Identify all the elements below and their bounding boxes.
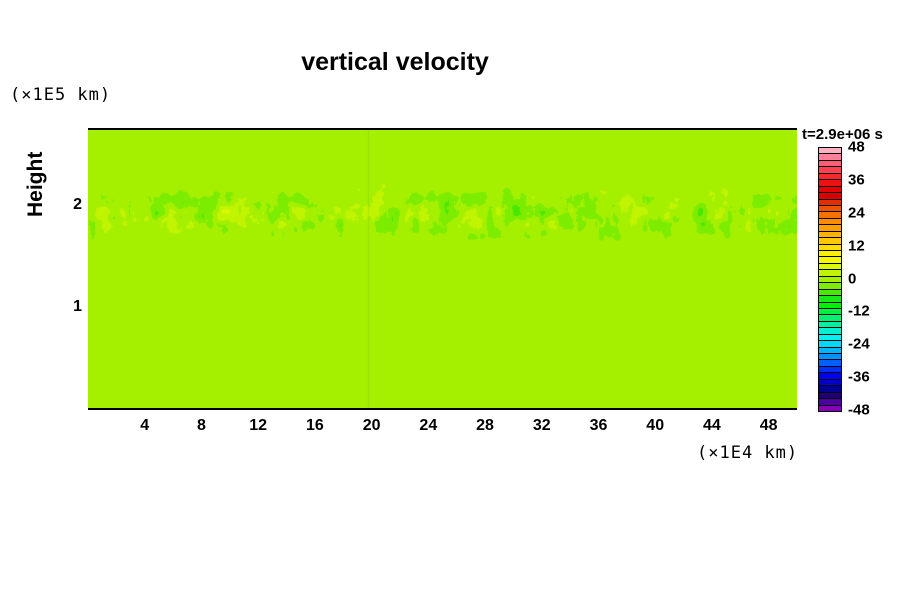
x-tick-label: 28 [476, 417, 494, 435]
velocity-field-heatmap [88, 130, 797, 408]
plot-area [88, 128, 797, 410]
y-axis-title: Height [24, 152, 48, 217]
colorbar-tick-label: 48 [848, 139, 865, 156]
colorbar-tick-label: 12 [848, 237, 865, 254]
x-tick-label: 8 [197, 417, 206, 435]
colorbar-band [819, 406, 841, 411]
colorbar-tick-label: 36 [848, 171, 865, 188]
x-tick-label: 40 [646, 417, 664, 435]
x-tick-label: 16 [306, 417, 324, 435]
x-tick-label: 44 [703, 417, 721, 435]
time-annotation: t=2.9e+06 s [802, 126, 883, 143]
x-tick-label: 20 [363, 417, 381, 435]
y-tick-label: 2 [66, 196, 82, 214]
x-tick-label: 36 [590, 417, 608, 435]
x-tick-label: 12 [249, 417, 267, 435]
y-tick-label: 1 [66, 298, 82, 316]
colorbar-tick-label: 24 [848, 204, 865, 221]
colorbar [818, 147, 842, 412]
x-tick-label: 32 [533, 417, 551, 435]
colorbar-tick-label: -12 [848, 303, 870, 320]
x-tick-label: 24 [419, 417, 437, 435]
colorbar-tick-label: -48 [848, 402, 870, 419]
y-axis-unit-label: (×1E5 km) [10, 85, 111, 105]
colorbar-tick-label: -36 [848, 369, 870, 386]
page-title: vertical velocity [0, 48, 790, 77]
vertical-velocity-plot-window: vertical velocity (×1E5 km) Height (×1E4… [0, 0, 900, 600]
colorbar-tick-label: -24 [848, 336, 870, 353]
x-tick-label: 48 [760, 417, 778, 435]
colorbar-tick-label: 0 [848, 270, 856, 287]
x-tick-label: 4 [140, 417, 149, 435]
x-axis-unit-label: (×1E4 km) [697, 443, 798, 463]
